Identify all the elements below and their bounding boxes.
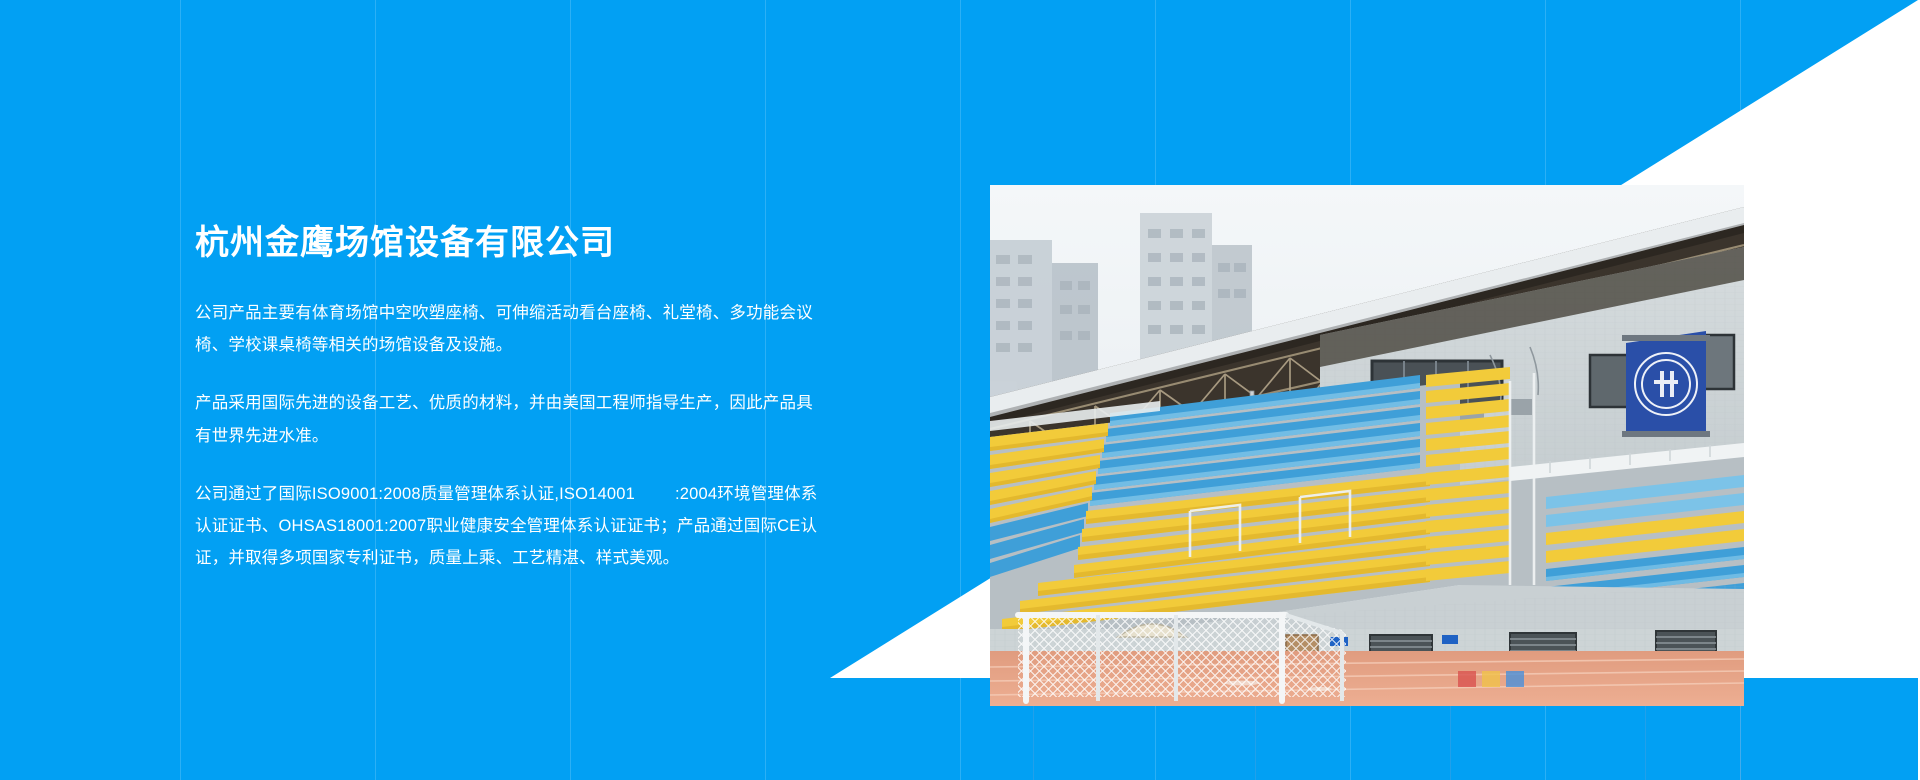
- intro-paragraph-quality: 产品采用国际先进的设备工艺、优质的材料，并由美国工程师指导生产，因此产品具有世界…: [195, 387, 820, 451]
- intro-paragraph-products: 公司产品主要有体育场馆中空吹塑座椅、可伸缩活动看台座椅、礼堂椅、多功能会议椅、学…: [195, 297, 820, 361]
- certification-text-before-gap: 公司通过了国际ISO9001:2008质量管理体系认证,ISO14001: [195, 485, 635, 503]
- intro-paragraph-certifications: 公司通过了国际ISO9001:2008质量管理体系认证,ISO14001:200…: [195, 478, 820, 575]
- page-title: 杭州金鹰场馆设备有限公司: [195, 224, 820, 263]
- hero-banner: 杭州金鹰场馆设备有限公司 公司产品主要有体育场馆中空吹塑座椅、可伸缩活动看台座椅…: [0, 0, 1920, 780]
- stadium-grandstand-photo: [990, 185, 1744, 706]
- hero-copy-block: 杭州金鹰场馆设备有限公司 公司产品主要有体育场馆中空吹塑座椅、可伸缩活动看台座椅…: [195, 224, 820, 574]
